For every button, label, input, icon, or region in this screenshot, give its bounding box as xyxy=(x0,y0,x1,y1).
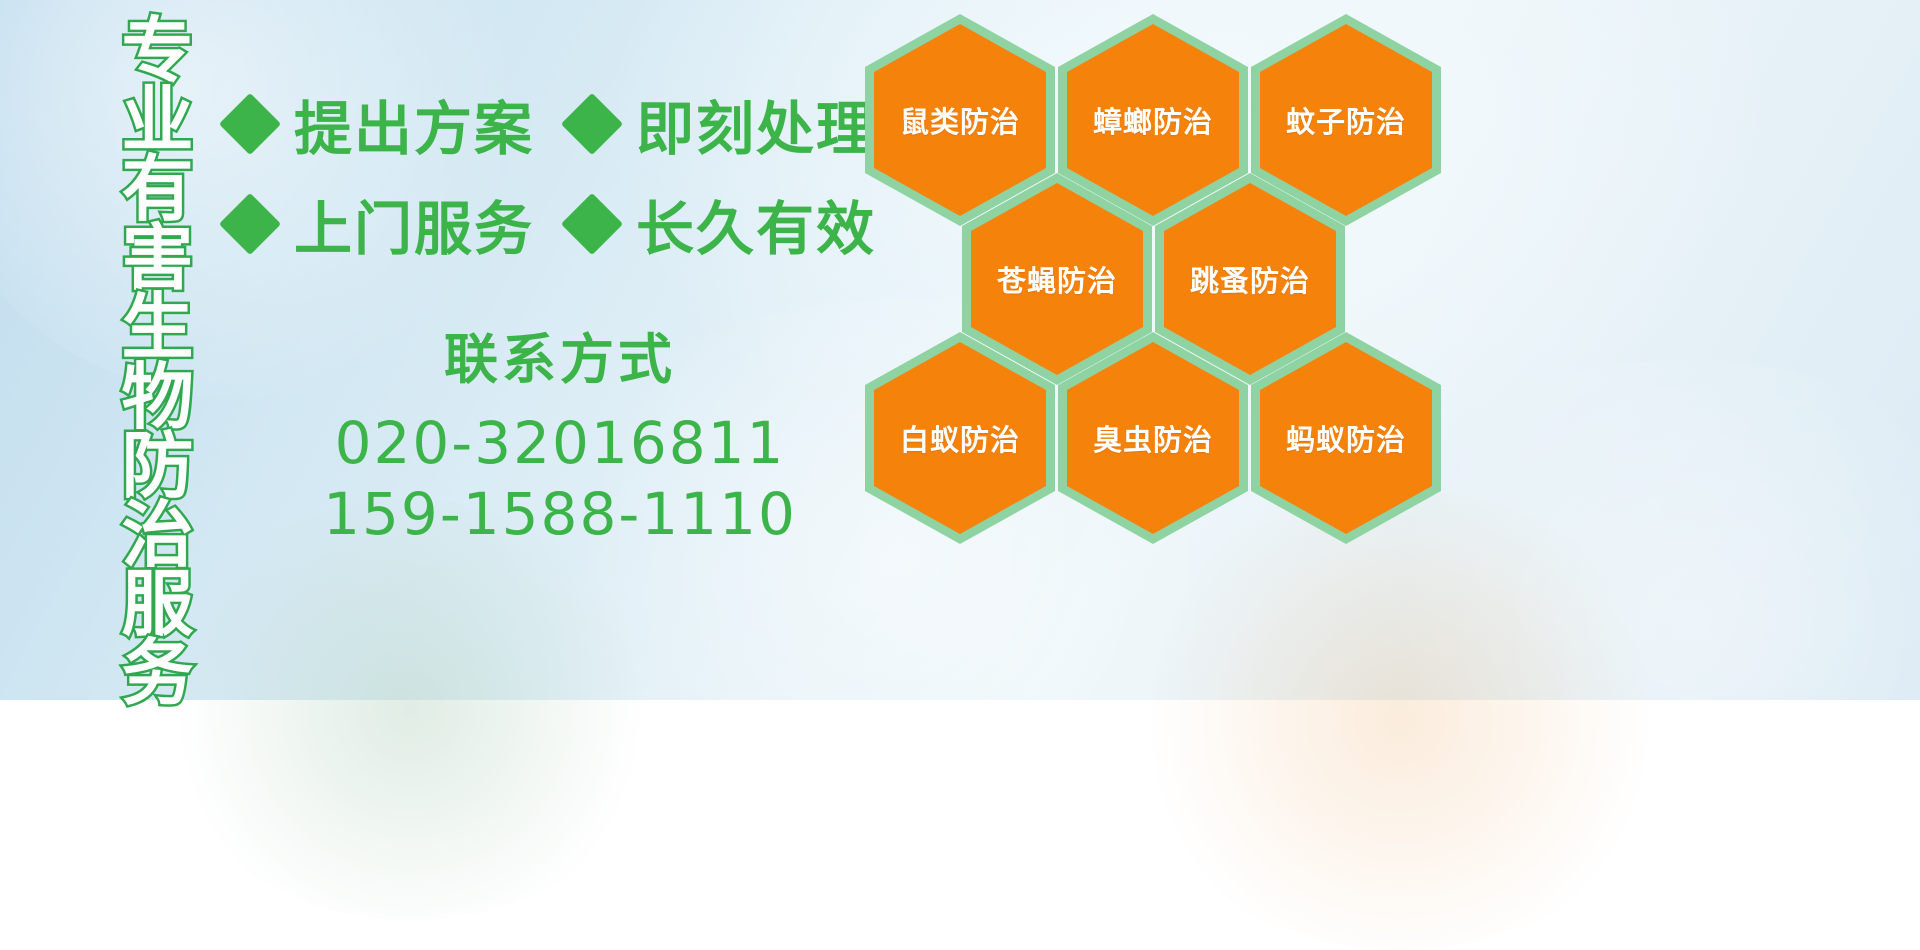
service-label: 蚊子防治 xyxy=(1286,99,1406,141)
vertical-title-char: 服 xyxy=(121,571,193,640)
vertical-title: 专 业 有 害 生 物 防 治 服 务 xyxy=(105,18,210,578)
feature-item: 上门服务 xyxy=(228,182,534,266)
vertical-title-char: 有 xyxy=(121,156,193,225)
feature-item: 长久有效 xyxy=(570,182,876,266)
diamond-bullet-icon xyxy=(561,193,623,255)
diamond-bullet-icon xyxy=(219,193,281,255)
service-hexagon-ant[interactable]: 蚂蚁防治 xyxy=(1251,332,1441,544)
contact-title: 联系方式 xyxy=(300,315,820,394)
vertical-title-char: 业 xyxy=(121,87,193,156)
service-label: 鼠类防治 xyxy=(900,99,1020,141)
service-hexagon-bedbug[interactable]: 臭虫防治 xyxy=(1058,332,1248,544)
contact-block: 联系方式 020-32016811 159-1588-1110 xyxy=(300,315,820,550)
diamond-bullet-icon xyxy=(561,93,623,155)
service-label: 蚂蚁防治 xyxy=(1286,417,1406,459)
feature-list: 提出方案 即刻处理 上门服务 长久有效 xyxy=(228,74,868,274)
service-label: 苍蝇防治 xyxy=(997,258,1117,300)
vertical-title-char: 生 xyxy=(121,294,193,363)
diamond-bullet-icon xyxy=(219,93,281,155)
feature-item: 提出方案 xyxy=(228,82,534,166)
service-label: 白蚁防治 xyxy=(900,417,1020,459)
feature-label: 长久有效 xyxy=(636,182,876,266)
background-glow-4 xyxy=(150,500,670,920)
feature-item: 即刻处理 xyxy=(570,82,876,166)
service-label: 跳蚤防治 xyxy=(1190,258,1310,300)
vertical-title-char: 专 xyxy=(121,18,193,87)
service-label: 蟑螂防治 xyxy=(1093,99,1213,141)
vertical-title-char: 害 xyxy=(121,225,193,294)
feature-label: 即刻处理 xyxy=(636,82,876,166)
vertical-title-char: 治 xyxy=(121,502,193,571)
service-hexagon-grid: 鼠类防治 蟑螂防治 蚊子防治 苍蝇防治 跳蚤防治 白蚁防治 xyxy=(855,0,1475,700)
service-label: 臭虫防治 xyxy=(1093,417,1213,459)
feature-label: 提出方案 xyxy=(294,82,534,166)
feature-row: 上门服务 长久有效 xyxy=(228,174,868,274)
phone-landline[interactable]: 020-32016811 xyxy=(300,408,820,479)
feature-label: 上门服务 xyxy=(294,182,534,266)
vertical-title-char: 防 xyxy=(121,433,193,502)
vertical-title-char: 务 xyxy=(121,640,193,709)
vertical-title-char: 物 xyxy=(121,364,193,433)
phone-mobile[interactable]: 159-1588-1110 xyxy=(300,479,820,550)
feature-row: 提出方案 即刻处理 xyxy=(228,74,868,174)
pest-control-banner: 专 业 有 害 生 物 防 治 服 务 提出方案 即刻处理 上门服务 xyxy=(0,0,1920,700)
service-hexagon-termite[interactable]: 白蚁防治 xyxy=(865,332,1055,544)
